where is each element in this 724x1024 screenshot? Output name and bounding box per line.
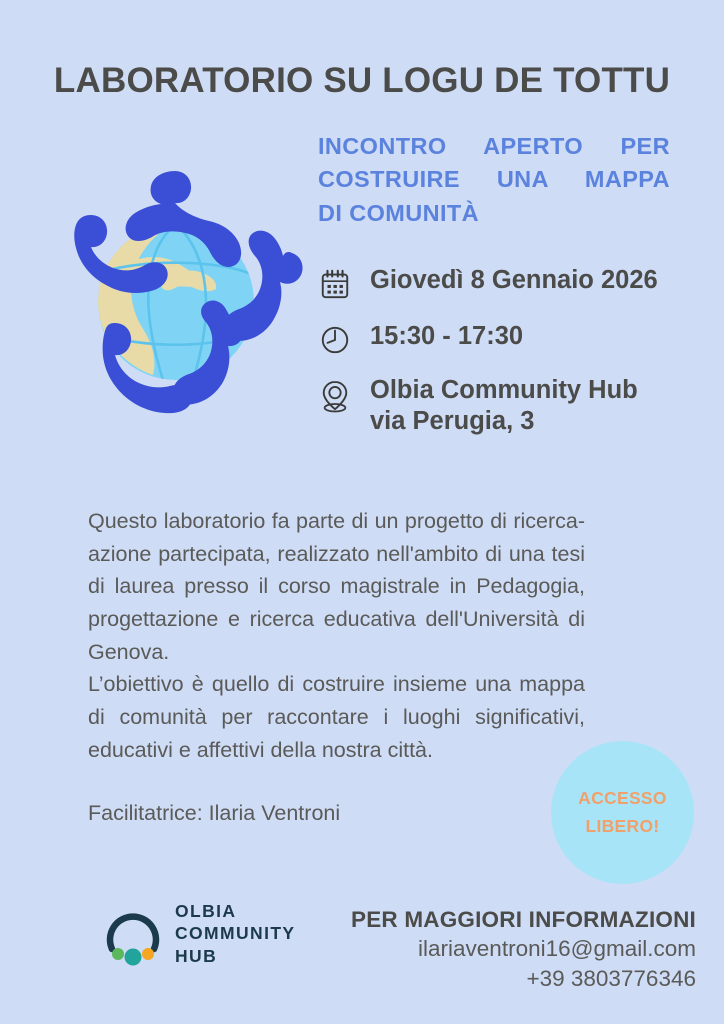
subtitle-line-2: COSTRUIRE UNA MAPPA <box>318 163 670 196</box>
location-pin-icon <box>316 376 354 416</box>
contact-email[interactable]: ilariaventroni16@gmail.com <box>276 934 696 964</box>
logo-arc-icon <box>101 902 165 966</box>
logo-dot-teal <box>125 948 142 965</box>
free-access-line-2: LIBERO! <box>585 813 659 840</box>
event-time-row: 15:30 - 17:30 <box>316 318 706 360</box>
description-paragraph-2: L’obiettivo è quello di costruire insiem… <box>88 668 585 766</box>
event-location-line-2: via Perugia, 3 <box>370 407 534 435</box>
free-access-badge: ACCESSO LIBERO! <box>551 741 694 884</box>
description-block: Questo laboratorio fa parte di un proget… <box>88 505 585 830</box>
contact-phone[interactable]: +39 3803776346 <box>276 964 696 994</box>
people-around-globe-illustration <box>33 163 318 448</box>
poster-subtitle: INCONTRO APERTO PER COSTRUIRE UNA MAPPA … <box>318 130 670 230</box>
event-location-row: Olbia Community Hub via Perugia, 3 <box>316 374 706 437</box>
olbia-community-hub-logo: OLBIA COMMUNITY HUB <box>101 900 296 967</box>
event-location-line-1: Olbia Community Hub <box>370 376 638 404</box>
free-access-line-1: ACCESSO <box>578 785 667 812</box>
logo-dot-green <box>112 948 124 960</box>
poster-canvas: LABORATORIO SU LOGU DE TOTTU INCONTRO AP… <box>0 0 724 1024</box>
description-paragraph-1: Questo laboratorio fa parte di un proget… <box>88 505 585 668</box>
contact-block: PER MAGGIORI INFORMAZIONI ilariaventroni… <box>276 906 696 994</box>
page-title: LABORATORIO SU LOGU DE TOTTU <box>0 62 724 101</box>
event-details-list: Giovedì 8 Gennaio 2026 15:30 - 17:30 O <box>316 262 706 449</box>
calendar-icon <box>316 264 354 304</box>
event-date-row: Giovedì 8 Gennaio 2026 <box>316 262 706 304</box>
subtitle-line-1: INCONTRO APERTO PER <box>318 130 670 163</box>
logo-word-line-3: HUB <box>175 946 217 966</box>
logo-word-line-1: OLBIA <box>175 901 236 921</box>
clock-icon <box>316 320 354 360</box>
facilitator-text: Facilitatrice: Ilaria Ventroni <box>88 797 585 830</box>
event-time-text: 15:30 - 17:30 <box>354 318 523 352</box>
event-location-text: Olbia Community Hub via Perugia, 3 <box>354 374 638 437</box>
subtitle-line-3: DI COMUNITÀ <box>318 197 670 230</box>
logo-dot-orange <box>142 948 154 960</box>
contact-heading: PER MAGGIORI INFORMAZIONI <box>276 906 696 934</box>
event-date-text: Giovedì 8 Gennaio 2026 <box>354 262 658 296</box>
